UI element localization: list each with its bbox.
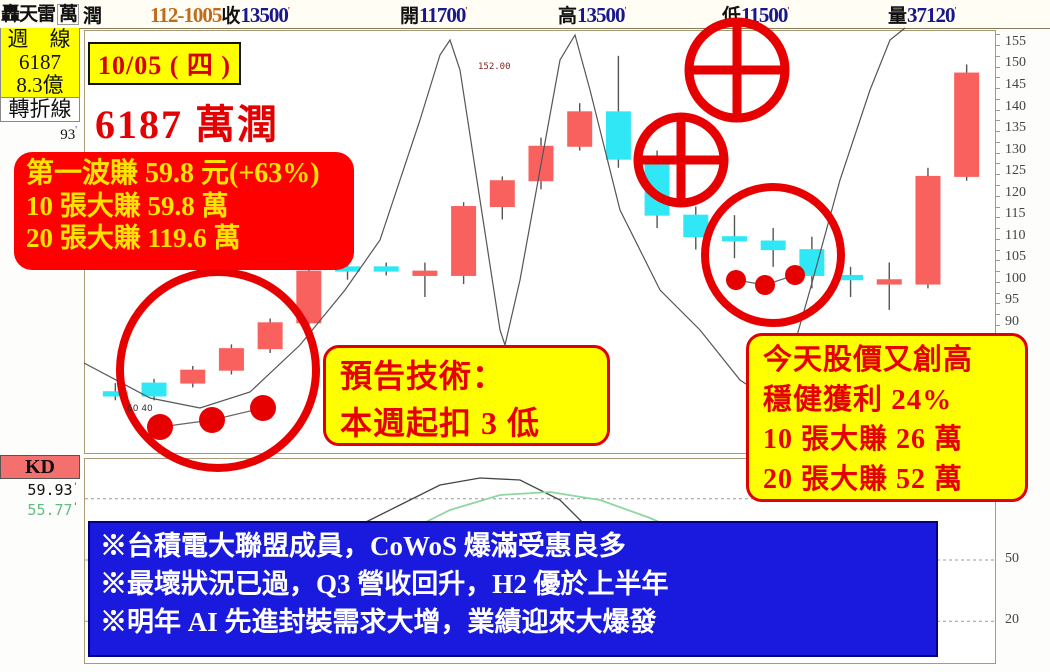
- close-quote: 112-1005收13500': [150, 1, 290, 28]
- period-info-block: 週 線 6187 8.3億: [0, 28, 80, 98]
- axis-minor-tick: [995, 153, 1000, 154]
- indicator-value-row: 93': [0, 122, 82, 144]
- axis-minor-tick: [995, 185, 1000, 186]
- kd-title: KD: [0, 455, 80, 479]
- axis-minor-tick: [995, 293, 1000, 294]
- blue-line1: ※台積電大聯盟成員，CoWoS 爆滿受惠良多: [90, 527, 936, 565]
- price-tick-label: 130: [1005, 142, 1026, 158]
- price-tick-label: 115: [1005, 206, 1025, 222]
- kd-tick-label: 50: [1005, 551, 1019, 567]
- stock-name: 潤: [83, 1, 108, 28]
- yellow-right-line1: 今天股價又創高: [763, 340, 1025, 380]
- price-tick-label: 125: [1005, 163, 1026, 179]
- close-label: 收: [221, 6, 240, 27]
- blue-line3: ※明年 AI 先進封裝需求大增，業績迎來大爆發: [90, 603, 936, 641]
- low-star: ': [787, 5, 789, 17]
- axis-minor-tick: [995, 163, 1000, 164]
- price-tick-label: 105: [1005, 249, 1026, 265]
- price-tick-label: 100: [1005, 271, 1026, 287]
- kd-tick-label: 20: [1005, 612, 1019, 628]
- logo-text: 轟天雷: [1, 5, 55, 24]
- volume-label: 量: [888, 6, 907, 27]
- symbol-box: 萬: [57, 4, 79, 25]
- price-tick-label: 110: [1005, 228, 1025, 244]
- volume-value: 37120: [907, 3, 955, 27]
- low-quote: 低11500': [722, 1, 789, 28]
- volume-star: ': [955, 5, 957, 17]
- price-tick-label: 135: [1005, 120, 1026, 136]
- axis-minor-tick: [995, 34, 1000, 35]
- stock-chart-screenshot: 轟天雷 萬 潤 112-1005收13500' 開11700' 高13500' …: [0, 0, 1050, 672]
- volume-quote: 量37120': [888, 1, 957, 28]
- axis-minor-tick: [995, 142, 1000, 143]
- kd-d-row: 55.77': [0, 499, 82, 519]
- kd-k-star: ': [73, 482, 78, 492]
- date-code: 112-1005: [150, 3, 221, 27]
- price-tick-label: 95: [1005, 292, 1019, 308]
- red-callout-line1: 第一波賺 59.8 元(+63%): [26, 158, 344, 190]
- high-quote: 高13500': [558, 1, 627, 28]
- close-star: ': [288, 5, 290, 17]
- axis-minor-tick: [995, 325, 1000, 326]
- axis-minor-tick: [995, 217, 1000, 218]
- price-tick-label: 150: [1005, 55, 1026, 71]
- axis-minor-tick: [995, 56, 1000, 57]
- axis-minor-tick: [995, 303, 1000, 304]
- axis-minor-tick: [995, 271, 1000, 272]
- quote-header-bar: 轟天雷 萬 潤 112-1005收13500' 開11700' 高13500' …: [0, 0, 1050, 29]
- ma-period-label: 60 40: [127, 404, 153, 414]
- axis-minor-tick: [995, 282, 1000, 283]
- open-quote: 開11700': [400, 1, 467, 28]
- period-label: 週 線: [1, 28, 79, 51]
- indicator-label: 轉折線: [1, 98, 79, 121]
- axis-minor-tick: [995, 110, 1000, 111]
- yellow-right-line3: 10 張大賺 26 萬: [763, 420, 1025, 460]
- price-tick-label: 155: [1005, 34, 1026, 50]
- open-value: 11700: [419, 3, 465, 27]
- axis-minor-tick: [995, 88, 1000, 89]
- open-label: 開: [400, 6, 419, 27]
- kd-d-value: 55.77: [27, 501, 72, 519]
- kd-d-star: ': [73, 502, 78, 512]
- high-label: 高: [558, 6, 577, 27]
- axis-minor-tick: [995, 196, 1000, 197]
- axis-minor-tick: [995, 314, 1000, 315]
- axis-minor-tick: [995, 239, 1000, 240]
- indicator-star: ': [75, 125, 77, 136]
- close-value: 13500: [240, 3, 288, 27]
- red-callout-line2: 10 張大賺 59.8 萬: [26, 190, 344, 222]
- high-value: 13500: [577, 3, 625, 27]
- kd-info-panel: KD 59.93' 55.77': [0, 455, 82, 519]
- left-info-panel: 週 線 6187 8.3億 轉折線 93': [0, 28, 82, 144]
- yellow-forecast-callout: 預告技術： 本週起扣 3 低: [323, 345, 610, 446]
- axis-minor-tick: [995, 260, 1000, 261]
- price-tick-label: 145: [1005, 77, 1026, 93]
- stock-code: 6187: [1, 51, 79, 74]
- price-tick-label: 90: [1005, 314, 1019, 330]
- date-badge-text: 10/05 ( 四 ): [98, 45, 231, 82]
- kd-k-row: 59.93': [0, 479, 82, 499]
- axis-minor-tick: [995, 67, 1000, 68]
- yellow-right-line4: 20 張大賺 52 萬: [763, 460, 1025, 500]
- turnover-amount: 8.3億: [1, 74, 79, 97]
- price-tick-label: 120: [1005, 185, 1026, 201]
- axis-minor-tick: [995, 228, 1000, 229]
- yellow-right-line2: 穩健獲利 24%: [763, 380, 1025, 420]
- red-profit-callout: 第一波賺 59.8 元(+63%) 10 張大賺 59.8 萬 20 張大賺 1…: [14, 152, 354, 270]
- kd-k-value: 59.93: [27, 481, 72, 499]
- high-star: ': [625, 5, 627, 17]
- axis-minor-tick: [995, 77, 1000, 78]
- low-label: 低: [722, 6, 741, 27]
- low-value: 11500: [741, 3, 787, 27]
- yellow-mid-line1: 預告技術：: [340, 352, 607, 400]
- axis-minor-tick: [995, 207, 1000, 208]
- open-star: ': [465, 5, 467, 17]
- indicator-block: 轉折線: [0, 98, 80, 122]
- yellow-mid-line2: 本週起扣 3 低: [340, 400, 607, 446]
- yellow-today-callout: 今天股價又創高 穩健獲利 24% 10 張大賺 26 萬 20 張大賺 52 萬: [746, 333, 1028, 502]
- price-tick-label: 140: [1005, 99, 1026, 115]
- blue-news-callout: ※台積電大聯盟成員，CoWoS 爆滿受惠良多 ※最壞狀況已過，Q3 營收回升，H…: [88, 521, 938, 657]
- peak-price-label: 152.00: [478, 62, 511, 72]
- axis-minor-tick: [995, 131, 1000, 132]
- red-callout-line3: 20 張大賺 119.6 萬: [26, 222, 344, 254]
- date-badge: 10/05 ( 四 ): [88, 42, 241, 85]
- blue-line2: ※最壞狀況已過，Q3 營收回升，H2 優於上半年: [90, 565, 936, 603]
- axis-minor-tick: [995, 174, 1000, 175]
- axis-minor-tick: [995, 120, 1000, 121]
- axis-minor-tick: [995, 99, 1000, 100]
- page-title: 6187 萬潤: [95, 92, 279, 150]
- axis-minor-tick: [995, 45, 1000, 46]
- indicator-value: 93: [60, 127, 75, 143]
- axis-minor-tick: [995, 250, 1000, 251]
- app-logo: 轟天雷 萬 潤: [1, 1, 108, 27]
